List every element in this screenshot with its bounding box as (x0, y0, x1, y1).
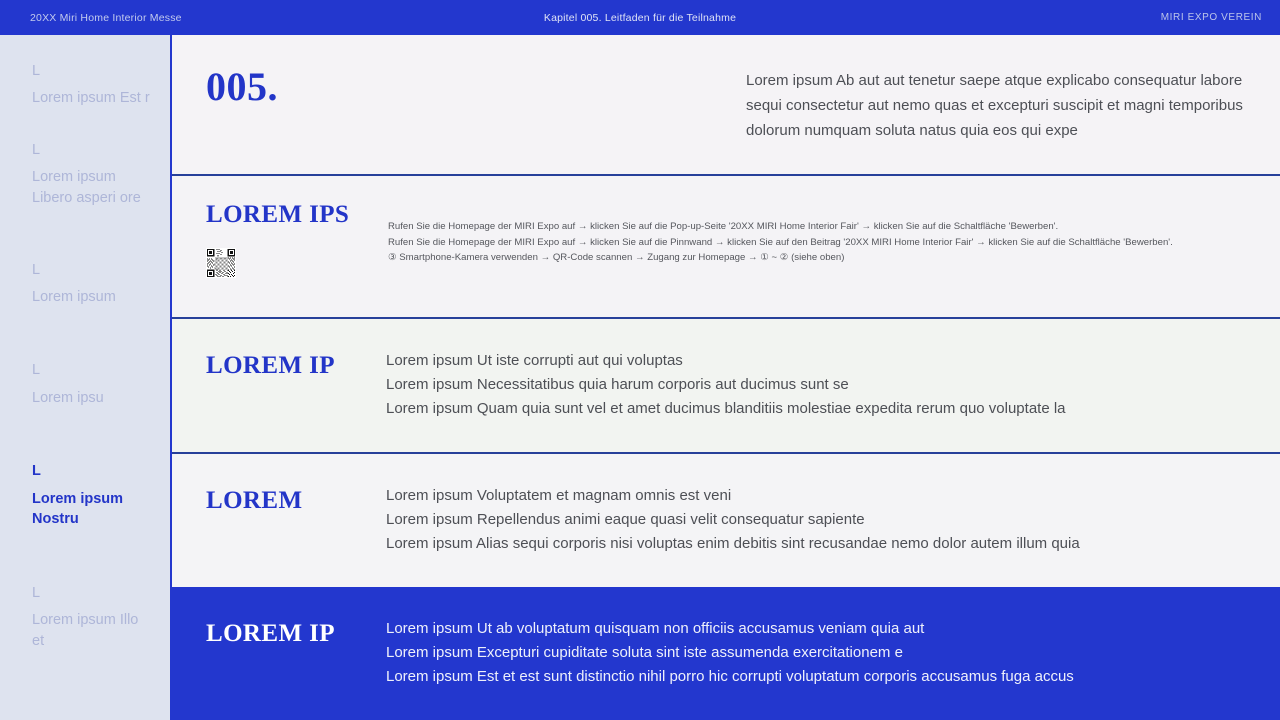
sidebar-item-5-active[interactable]: L Lorem ipsum Nostru (32, 463, 170, 530)
event-title: 20XX Miri Home Interior Messe (30, 12, 182, 24)
sidebar-item-4-label: Lorem ipsu (32, 388, 150, 409)
sidebar-item-3-kicker: L (32, 262, 170, 279)
list-item: Lorem ipsum Ut iste corrupti aut qui vol… (386, 349, 1066, 373)
sidebar-item-2[interactable]: L Lorem ipsum Libero asperi ore (32, 142, 170, 209)
qr-section-heading: LOREM IPS (206, 202, 388, 227)
sidebar-item-4-kicker: L (32, 362, 170, 379)
qr-application-section: LOREM IPS (172, 174, 1280, 317)
list-item: Lorem ipsum Ut ab voluptatum quisquam no… (386, 617, 1074, 641)
slide-page: 20XX Miri Home Interior Messe Kapitel 00… (0, 0, 1280, 720)
instruction-line-1: Rufen Sie die Homepage der MIRI Expo auf… (388, 219, 1173, 235)
chapter-breadcrumb: Kapitel 005. Leitfaden für die Teilnahme (544, 12, 736, 24)
sidebar-item-3[interactable]: L Lorem ipsum (32, 262, 170, 308)
sidebar-item-6[interactable]: L Lorem ipsum Illo et (32, 585, 170, 652)
sidebar-item-2-kicker: L (32, 142, 170, 159)
list-item: Lorem ipsum Excepturi cupiditate soluta … (386, 641, 1074, 665)
chapter-intro-text: Lorem ipsum Ab aut aut tenetur saepe atq… (746, 68, 1251, 143)
chapter-number: 005. (206, 63, 746, 110)
list-section-1-body: Lorem ipsum Ut iste corrupti aut qui vol… (386, 319, 1066, 421)
qr-column: LOREM IPS (206, 176, 388, 278)
highlight-section-body: Lorem ipsum Ut ab voluptatum quisquam no… (386, 587, 1074, 689)
sidebar-item-1-label: Lorem ipsum Est r (32, 88, 150, 109)
list-item: Lorem ipsum Est et est sunt distinctio n… (386, 665, 1074, 689)
sidebar-item-5-kicker: L (32, 463, 170, 480)
instruction-line-2: Rufen Sie die Homepage der MIRI Expo auf… (388, 235, 1173, 251)
chapter-title-section: 005. Lorem ipsum Ab aut aut tenetur saep… (172, 35, 1280, 174)
instruction-line-3: ③ Smartphone-Kamera verwenden → QR-Code … (388, 250, 1173, 266)
sidebar-item-3-label: Lorem ipsum (32, 287, 150, 308)
list-item: Lorem ipsum Repellendus animi eaque quas… (386, 508, 1080, 532)
qr-instructions: Rufen Sie die Homepage der MIRI Expo auf… (388, 176, 1173, 266)
organization-label: MIRI EXPO VEREIN (1161, 12, 1262, 23)
sidebar-item-6-kicker: L (32, 585, 170, 602)
list-item: Lorem ipsum Necessitatibus quia harum co… (386, 373, 1066, 397)
list-item: Lorem ipsum Voluptatem et magnam omnis e… (386, 484, 1080, 508)
qr-code-icon[interactable] (206, 248, 236, 278)
list-section-1-heading: LOREM IP (206, 319, 386, 378)
sidebar-item-1-kicker: L (32, 63, 170, 80)
highlight-section-heading: LOREM IP (206, 587, 386, 646)
highlight-section: LOREM IP Lorem ipsum Ut ab voluptatum qu… (170, 587, 1280, 720)
sidebar-item-4[interactable]: L Lorem ipsu (32, 362, 170, 408)
sidebar-item-6-label: Lorem ipsum Illo et (32, 610, 150, 651)
sidebar-item-5-label: Lorem ipsum Nostru (32, 489, 150, 530)
sidebar-item-2-label: Lorem ipsum Libero asperi ore (32, 167, 150, 208)
list-section-1: LOREM IP Lorem ipsum Ut iste corrupti au… (172, 317, 1280, 452)
list-section-2-body: Lorem ipsum Voluptatem et magnam omnis e… (386, 454, 1080, 556)
sidebar-nav: L Lorem ipsum Est r L Lorem ipsum Libero… (0, 35, 170, 720)
list-item: Lorem ipsum Alias sequi corporis nisi vo… (386, 532, 1080, 556)
top-header-bar: 20XX Miri Home Interior Messe Kapitel 00… (0, 0, 1280, 35)
main-content: 005. Lorem ipsum Ab aut aut tenetur saep… (170, 35, 1280, 720)
sidebar-item-1[interactable]: L Lorem ipsum Est r (32, 63, 170, 109)
list-item: Lorem ipsum Quam quia sunt vel et amet d… (386, 397, 1066, 421)
list-section-2-heading: LOREM (206, 454, 386, 513)
list-section-2: LOREM Lorem ipsum Voluptatem et magnam o… (172, 452, 1280, 587)
